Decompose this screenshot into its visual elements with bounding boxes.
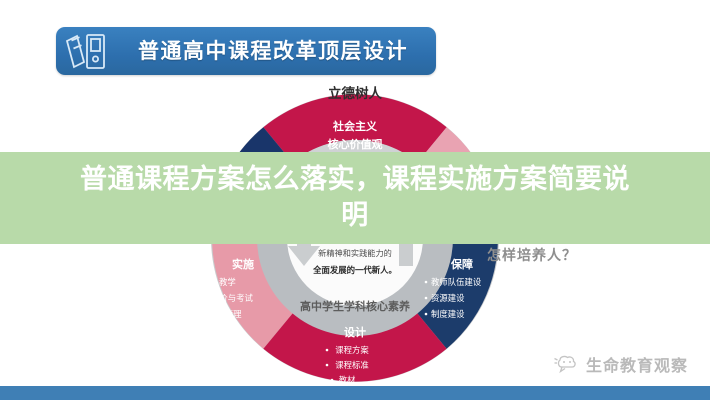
- ring-inner-label: 高中学生学科核心素养: [300, 299, 411, 313]
- core-text-line-3: 新精神和实践能力的: [318, 248, 392, 258]
- design-item-1: 课程标准: [335, 360, 369, 370]
- headline-line-1: 普通课程方案怎么落实，课程实施方案简要说: [80, 162, 630, 198]
- guarantee-item-2: 制度建设: [431, 309, 465, 319]
- core-values-line1: 社会主义: [332, 119, 378, 133]
- crown-label: 立德树人: [328, 85, 382, 101]
- implementation-item-0: 教学: [219, 277, 236, 287]
- watermark: 生命教育观察: [553, 352, 688, 376]
- implementation-item-1: 评价与考试: [211, 293, 253, 303]
- implementation-title: 实施: [232, 257, 254, 271]
- guarantee-title: 保障: [450, 257, 473, 271]
- design-item-0: 课程方案: [335, 345, 369, 355]
- header-banner: 普通高中课程改革顶层设计: [56, 27, 436, 75]
- side-question-how: 怎样培养人？: [487, 245, 577, 265]
- implementation-item-2: 课程管理: [208, 309, 242, 319]
- cloud-face-logo-icon: [553, 354, 579, 374]
- binders-icon: [62, 29, 124, 73]
- core-text-line-4: 全面发展的一代新人。: [312, 265, 397, 275]
- guarantee-item-1: 资源建设: [431, 293, 465, 303]
- header-title: 普通高中课程改革顶层设计: [124, 41, 436, 62]
- watermark-label: 生命教育观察: [586, 352, 688, 376]
- design-title: 设计: [344, 325, 366, 339]
- headline-overlay-text: 普通课程方案怎么落实，课程实施方案简要说 明: [0, 152, 710, 244]
- core-values-line2: 核心价值观: [328, 137, 383, 151]
- footer-strip: [0, 386, 710, 400]
- screenshot-root: 普通高中课程改革顶层设计: [0, 0, 710, 400]
- headline-line-2: 明: [341, 198, 369, 234]
- guarantee-item-0: 教师队伍建设: [431, 277, 482, 287]
- design-item-2: 教材: [339, 375, 356, 385]
